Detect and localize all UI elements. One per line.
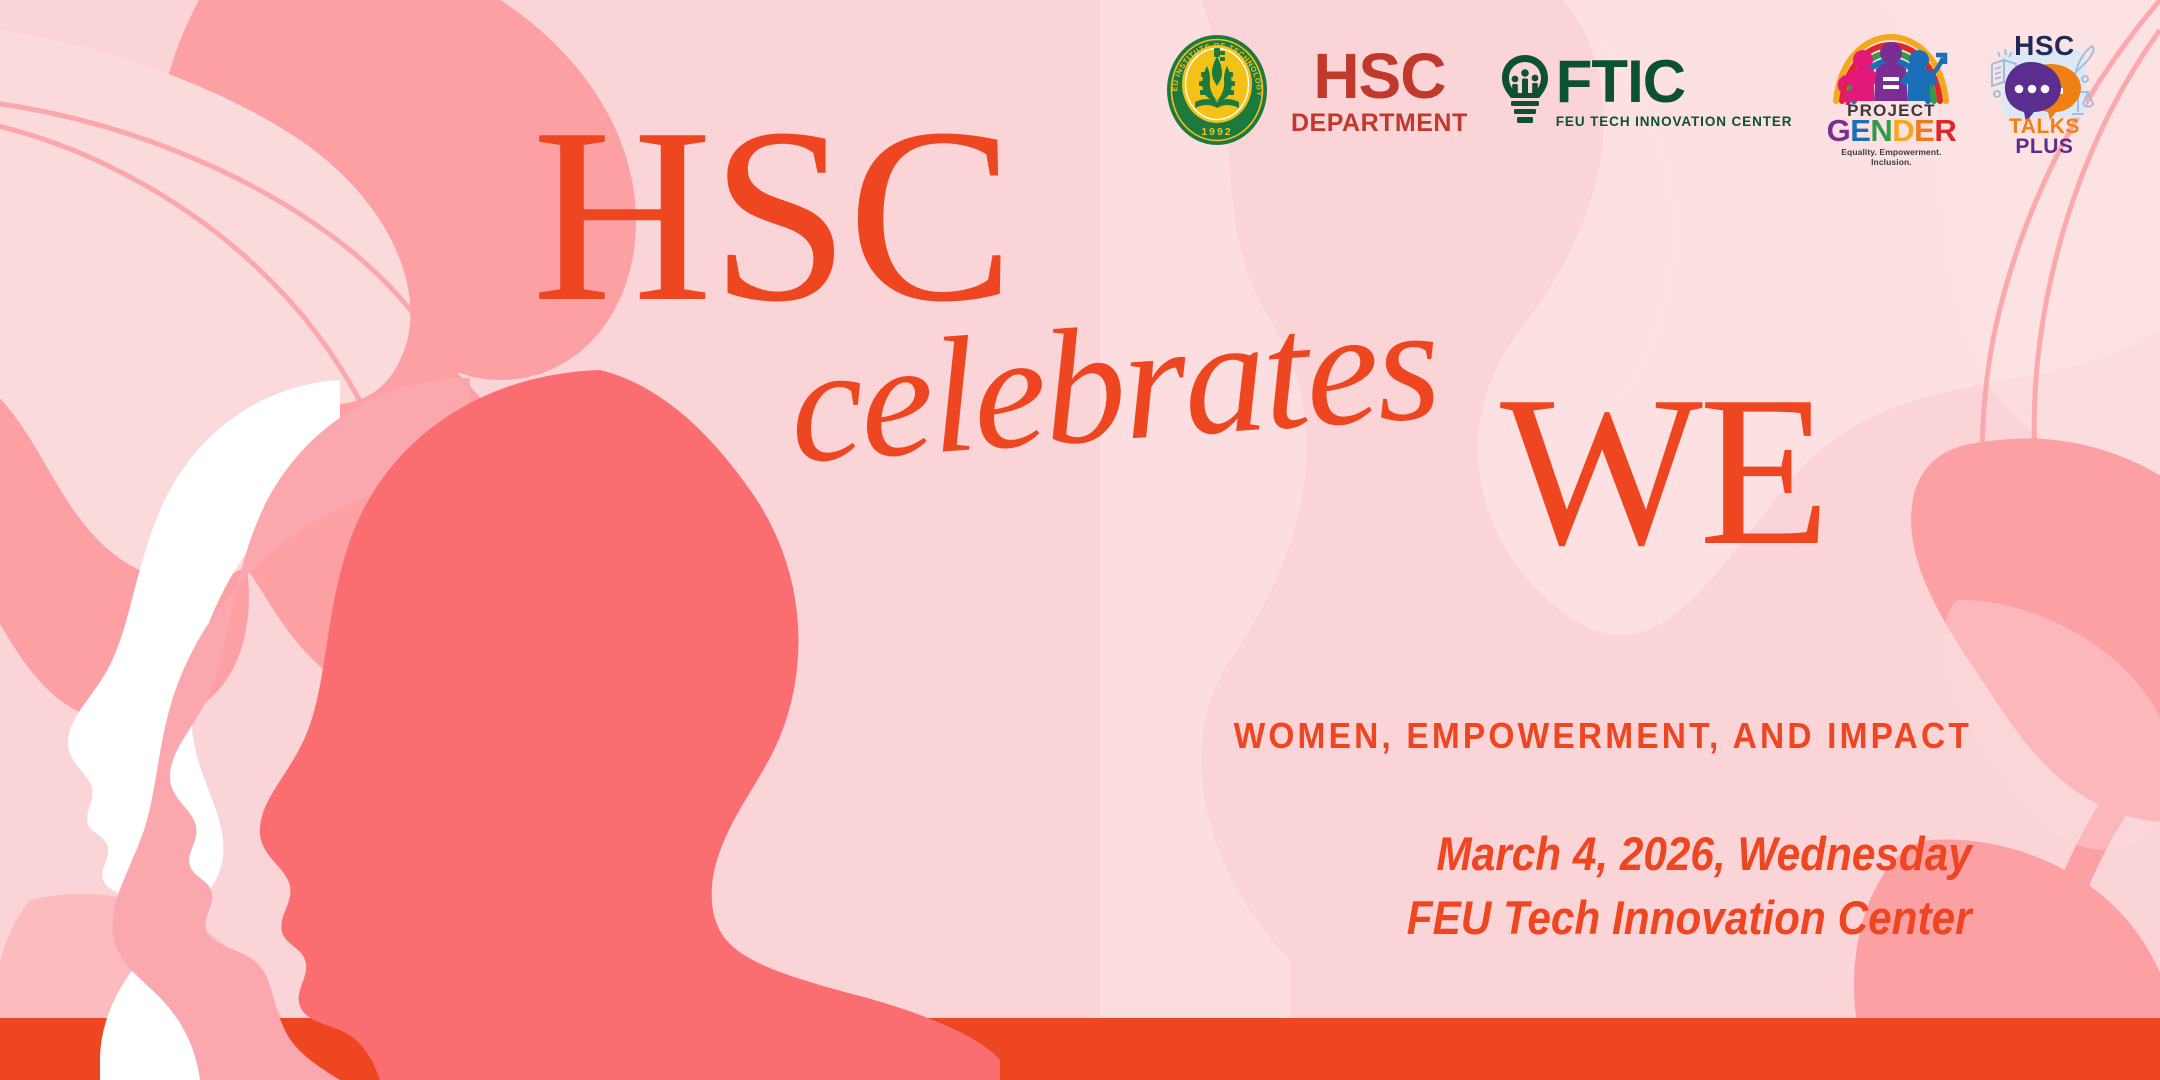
feu-seal-icon: FEU INSTITUTE OF TECHNOLOGY 1992 [1165,34,1269,146]
theme-line: WOMEN, EMPOWERMENT, AND IMPACT [1234,715,1972,757]
logo-project-gender: PROJECT GENDER Equality. Empowerment. In… [1826,25,1956,155]
project-gender-letter-5: R [1934,115,1956,146]
hsc-talks-plus-bottom: PLUS [1988,136,2100,158]
project-gender-letter-1: E [1850,115,1870,146]
poster-canvas: HSC celebrates WE WOMEN, EMPOWERMENT, AN… [0,0,2160,1080]
project-gender-letter-0: G [1827,115,1851,146]
headline-celebrates-script: celebrates [784,279,1442,489]
event-date: March 4, 2026, Wednesday [1437,826,1972,881]
figure-equality [1874,42,1908,101]
logo-feu-seal: FEU INSTITUTE OF TECHNOLOGY 1992 [1165,34,1269,146]
project-gender-letter-4: E [1914,115,1934,146]
logo-hsc-talks-plus: HSC TALKS PLUS [1988,24,2100,156]
headline-we: WE [1500,380,1826,563]
logo-hsc-department: HSC DEPARTMENT [1287,44,1468,136]
project-gender-letter-2: N [1870,115,1892,146]
project-gender-line2: GENDER [1826,115,1956,146]
logo-ftic: FTIC FEU TECH INNOVATION CENTER [1498,52,1793,129]
hsc-department-big: HSC [1313,44,1445,108]
project-gender-letter-3: D [1892,115,1914,146]
ftic-small: FEU TECH INNOVATION CENTER [1556,115,1793,129]
headline-hsc: HSC [532,110,1012,323]
partner-logo-row: FEU INSTITUTE OF TECHNOLOGY 1992 HSC DEP… [1165,24,2100,156]
project-gender-tagline: Equality. Empowerment. Inclusion. [1826,147,1956,167]
event-venue: FEU Tech Innovation Center [1407,890,1972,945]
ftic-big: FTIC [1556,52,1793,112]
feu-seal-year: 1992 [1201,126,1232,138]
hsc-department-small: DEPARTMENT [1291,111,1468,136]
hsc-talks-plus-top: HSC [1988,30,2100,62]
ftic-lightbulb-icon [1498,53,1552,127]
